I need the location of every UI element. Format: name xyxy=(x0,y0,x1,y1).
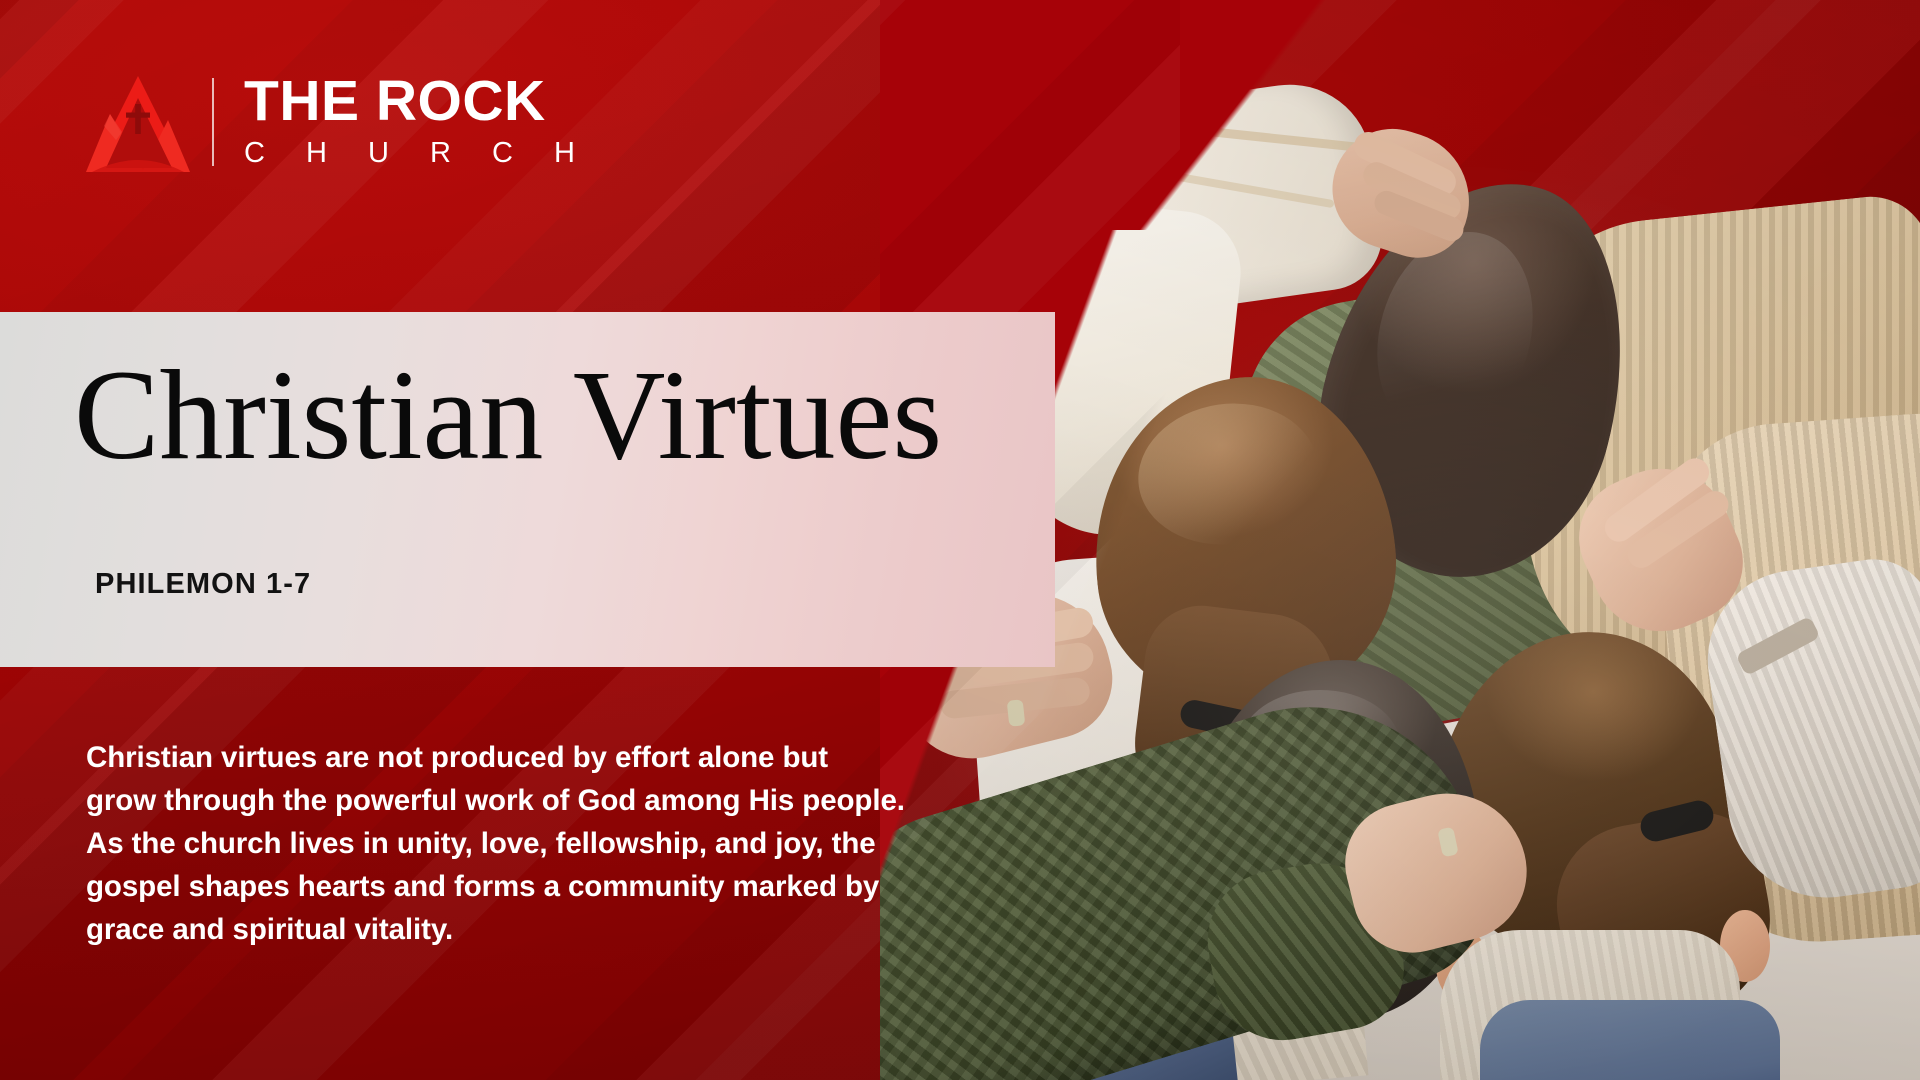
logo-name-primary: THE ROCK xyxy=(244,74,591,130)
scripture-reference: PHILEMON 1-7 xyxy=(95,568,311,601)
title-band: Christian Virtues PHILEMON 1-7 xyxy=(0,312,1055,667)
logo-name-secondary: C H U R C H xyxy=(244,137,591,170)
logo-divider xyxy=(212,78,214,166)
description-paragraph: Christian virtues are not produced by ef… xyxy=(86,736,906,951)
brand-logo[interactable]: THE ROCK C H U R C H xyxy=(86,62,591,182)
sermon-slide: THE ROCK C H U R C H Christian Virtues P… xyxy=(0,0,1920,1080)
logo-wordmark: THE ROCK C H U R C H xyxy=(244,74,591,171)
page-title: Christian Virtues xyxy=(74,309,1054,479)
mountain-cross-icon xyxy=(86,68,190,176)
